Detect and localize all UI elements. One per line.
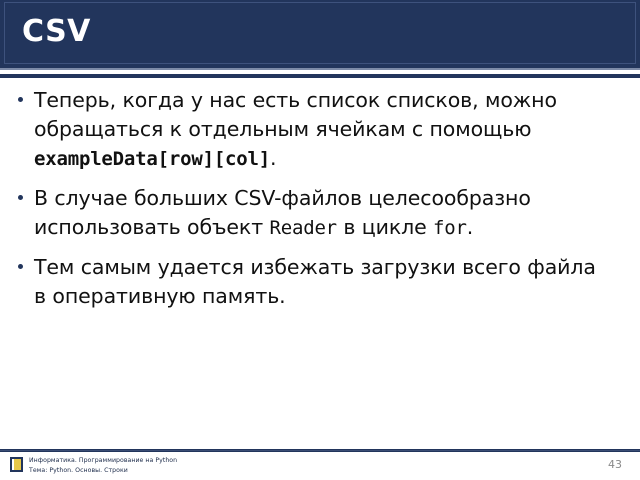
- slide-footer: Информатика. Программирование на Python …: [0, 455, 640, 480]
- text-run: .: [270, 146, 276, 170]
- text-run: в цикле: [337, 215, 433, 239]
- slide: CSV Теперь, когда у нас есть список спис…: [0, 0, 640, 480]
- bullet-text-2: В случае больших CSV-файлов целесообразн…: [34, 184, 614, 243]
- footer-line-2: Тема: Python. Основы. Строки: [29, 466, 177, 476]
- footer-line-1: Информатика. Программирование на Python: [29, 456, 177, 466]
- book-logo-icon: [10, 457, 23, 472]
- footer-divider: [0, 449, 640, 452]
- bullet-item-3: Тем самым удается избежать загрузки всег…: [18, 253, 614, 311]
- code-run: for: [433, 217, 467, 239]
- code-run: Reader: [269, 217, 336, 239]
- title-bar-inner-border: [4, 2, 636, 64]
- text-run: .: [467, 215, 473, 239]
- bullet-text-3: Тем самым удается избежать загрузки всег…: [34, 253, 614, 311]
- slide-content: Теперь, когда у нас есть список списков,…: [0, 86, 640, 321]
- text-run: Теперь, когда у нас есть список списков,…: [34, 88, 557, 141]
- footer-caption: Информатика. Программирование на Python …: [29, 456, 177, 475]
- bullet-dot-icon: [18, 86, 34, 102]
- bullet-item-1: Теперь, когда у нас есть список списков,…: [18, 86, 614, 174]
- bullet-text-1: Теперь, когда у нас есть список списков,…: [34, 86, 614, 174]
- code-run: exampleData[row][col]: [34, 148, 270, 170]
- page-title: CSV: [22, 14, 91, 50]
- slide-title-bar: CSV: [0, 0, 640, 70]
- bullet-dot-icon: [18, 253, 34, 269]
- bullet-item-2: В случае больших CSV-файлов целесообразн…: [18, 184, 614, 243]
- page-number: 43: [608, 458, 622, 471]
- text-run: Тем самым удается избежать загрузки всег…: [34, 255, 596, 308]
- title-underline-rule: [0, 74, 640, 78]
- bullet-dot-icon: [18, 184, 34, 200]
- book-logo-icon-inner: [12, 459, 21, 470]
